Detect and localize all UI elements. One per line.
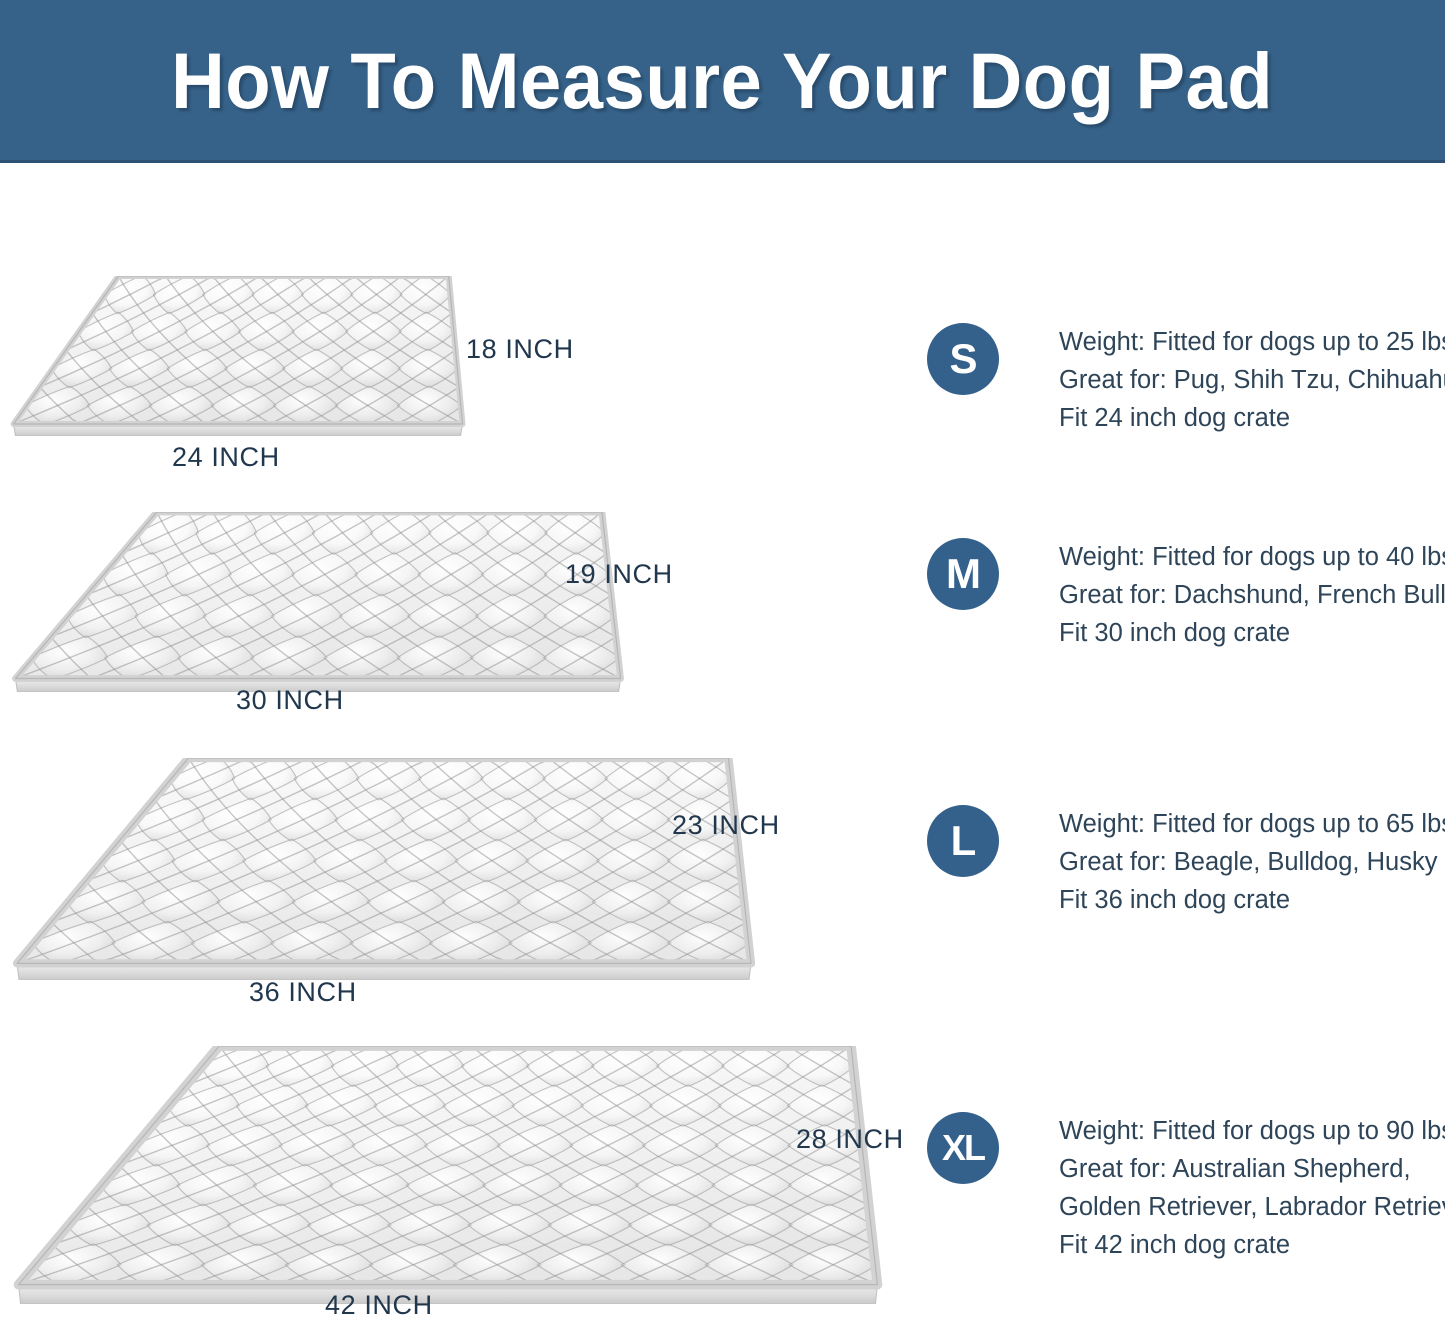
pad-width-label-m: 30 INCH bbox=[236, 685, 344, 716]
spec-line-breeds: Great for: Beagle, Bulldog, Husky bbox=[1059, 843, 1445, 881]
size-badge-xl: XL bbox=[927, 1112, 999, 1184]
header-banner: How To Measure Your Dog Pad bbox=[0, 0, 1445, 163]
size-badge-m: M bbox=[927, 538, 999, 610]
spec-line-weight: Weight: Fitted for dogs up to 90 lbs bbox=[1059, 1112, 1445, 1150]
spec-line-crate: Fit 42 inch dog crate bbox=[1059, 1226, 1445, 1264]
pad-illustration-xl bbox=[8, 1046, 888, 1304]
pad-depth-label-l: 23 INCH bbox=[672, 810, 780, 841]
pad-depth-label-s: 18 INCH bbox=[466, 334, 574, 365]
spec-line-breeds: Great for: Dachshund, French Bulldog bbox=[1059, 576, 1445, 614]
size-spec-s: S Weight: Fitted for dogs up to 25 lbs G… bbox=[927, 323, 1445, 437]
page-title: How To Measure Your Dog Pad bbox=[172, 41, 1274, 120]
spec-line-breeds-2: Golden Retriever, Labrador Retriever bbox=[1059, 1188, 1445, 1226]
spec-line-breeds: Great for: Australian Shepherd, bbox=[1059, 1150, 1445, 1188]
spec-line-breeds: Great for: Pug, Shih Tzu, Chihuahua bbox=[1059, 361, 1445, 399]
spec-line-crate: Fit 36 inch dog crate bbox=[1059, 881, 1445, 919]
size-spec-l: L Weight: Fitted for dogs up to 65 lbs G… bbox=[927, 805, 1445, 919]
pad-width-label-xl: 42 INCH bbox=[325, 1290, 433, 1321]
size-spec-text-s: Weight: Fitted for dogs up to 25 lbs Gre… bbox=[1059, 323, 1445, 437]
pad-illustration-l bbox=[8, 758, 760, 980]
size-spec-text-l: Weight: Fitted for dogs up to 65 lbs Gre… bbox=[1059, 805, 1445, 919]
size-spec-xl: XL Weight: Fitted for dogs up to 90 lbs … bbox=[927, 1112, 1445, 1264]
size-badge-l: L bbox=[927, 805, 999, 877]
size-spec-text-xl: Weight: Fitted for dogs up to 90 lbs Gre… bbox=[1059, 1112, 1445, 1264]
pad-depth-label-xl: 28 INCH bbox=[796, 1124, 904, 1155]
pad-illustration-m bbox=[8, 512, 628, 692]
spec-line-weight: Weight: Fitted for dogs up to 40 lbs bbox=[1059, 538, 1445, 576]
size-badge-s: S bbox=[927, 323, 999, 395]
size-spec-text-m: Weight: Fitted for dogs up to 40 lbs Gre… bbox=[1059, 538, 1445, 652]
pad-illustration-s bbox=[8, 276, 468, 436]
pad-depth-label-m: 19 INCH bbox=[565, 559, 673, 590]
size-spec-m: M Weight: Fitted for dogs up to 40 lbs G… bbox=[927, 538, 1445, 652]
spec-line-weight: Weight: Fitted for dogs up to 25 lbs bbox=[1059, 323, 1445, 361]
spec-line-weight: Weight: Fitted for dogs up to 65 lbs bbox=[1059, 805, 1445, 843]
pad-width-label-l: 36 INCH bbox=[249, 977, 357, 1008]
spec-line-crate: Fit 30 inch dog crate bbox=[1059, 614, 1445, 652]
spec-line-crate: Fit 24 inch dog crate bbox=[1059, 399, 1445, 437]
pad-width-label-s: 24 INCH bbox=[172, 442, 280, 473]
